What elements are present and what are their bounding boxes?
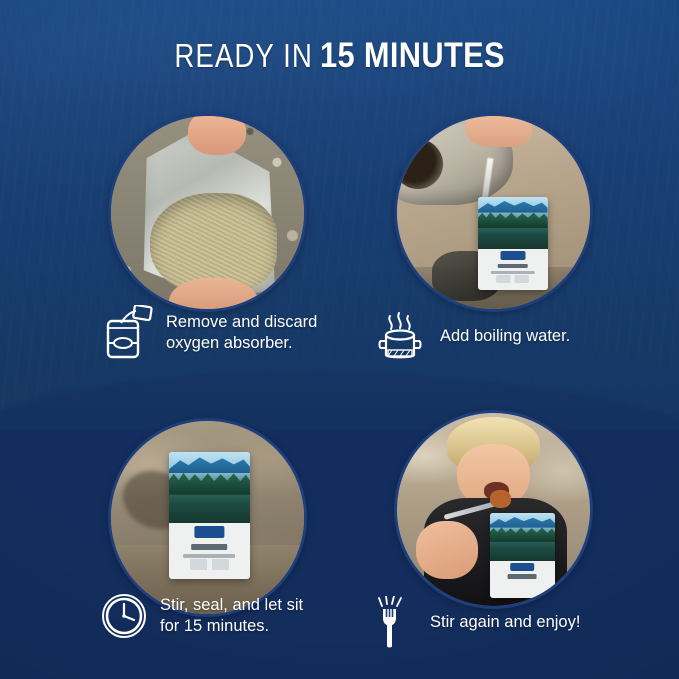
title-light-part: READY IN bbox=[175, 37, 313, 75]
pouch-brand-logo bbox=[511, 563, 535, 571]
step-3-photo-circle bbox=[108, 418, 307, 617]
pouch-forest bbox=[490, 526, 556, 542]
pouch-brand-logo bbox=[500, 251, 525, 260]
step-4-caption: Stir again and enjoy! bbox=[430, 612, 580, 633]
pouch-forest bbox=[169, 470, 250, 494]
pouch-brand-logo bbox=[195, 526, 224, 539]
step-3-row: Stir, seal, and let sit for 15 minutes. bbox=[100, 592, 303, 640]
pouch-artwork bbox=[478, 197, 547, 249]
meal-pouch-held bbox=[490, 513, 556, 598]
step-2-photo-circle bbox=[394, 113, 593, 312]
pouch-nutrition-badges bbox=[190, 559, 229, 570]
step-4-row: Stir again and enjoy! bbox=[374, 596, 580, 650]
infographic-canvas: READY IN15 MINUTES bbox=[0, 0, 679, 679]
page-title: READY IN15 MINUTES bbox=[0, 36, 679, 76]
step-1-photo-circle bbox=[108, 113, 307, 312]
pouch-mountains bbox=[169, 455, 250, 474]
pouch-artwork bbox=[490, 513, 556, 561]
pouch-nutrition-badges bbox=[496, 275, 529, 283]
pouring-boiling-water-photo bbox=[397, 116, 590, 309]
pouch-description bbox=[491, 271, 535, 274]
hand-holding-kettle bbox=[466, 116, 532, 147]
lasagna-pouch bbox=[169, 452, 250, 579]
green-curry-pouch bbox=[478, 197, 547, 290]
pouch-meal-name bbox=[508, 574, 537, 578]
open-pouch-dried-meal-photo bbox=[111, 116, 304, 309]
fork-sparkle-icon bbox=[374, 596, 418, 650]
steaming-pot-icon bbox=[378, 310, 428, 364]
step-4-photo-circle bbox=[394, 410, 593, 609]
hand-top bbox=[188, 116, 246, 155]
pouch-oxygen-absorber-icon bbox=[104, 305, 154, 361]
step-1-row: Remove and discard oxygen absorber. bbox=[104, 305, 317, 361]
pouch-meal-name bbox=[192, 544, 228, 550]
sealed-pouch-on-rocks-photo bbox=[111, 421, 304, 614]
clock-icon bbox=[100, 592, 148, 640]
boy-arm bbox=[416, 521, 478, 579]
boy-eating-meal-photo bbox=[397, 413, 590, 606]
pouch-mountains bbox=[478, 199, 547, 212]
pouch-forest bbox=[478, 211, 547, 229]
title-bold-part: 15 MINUTES bbox=[320, 36, 505, 76]
step-2-caption: Add boiling water. bbox=[440, 326, 570, 347]
food-on-spoon bbox=[490, 490, 511, 507]
pouch-description bbox=[183, 554, 235, 558]
step-2-row: Add boiling water. bbox=[378, 310, 570, 364]
step-3-caption: Stir, seal, and let sit for 15 minutes. bbox=[160, 595, 303, 637]
pouch-meal-name bbox=[498, 264, 529, 269]
step-1-caption: Remove and discard oxygen absorber. bbox=[166, 312, 317, 354]
pouch-mountains bbox=[490, 515, 556, 527]
pouch-artwork bbox=[169, 452, 250, 523]
